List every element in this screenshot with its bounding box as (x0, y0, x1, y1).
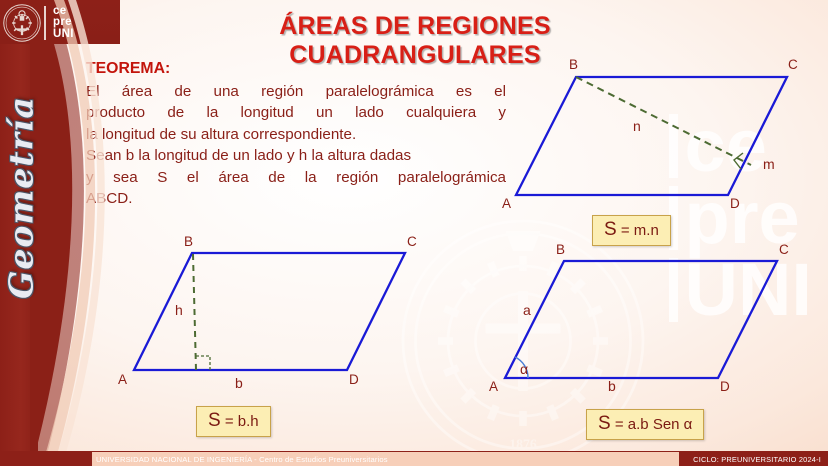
figure1-label-side-m: m (763, 156, 775, 172)
formula1-lhs: S (604, 219, 617, 240)
uni-seal-icon (3, 4, 41, 42)
footer-left-text: UNIVERSIDAD NACIONAL DE INGENIERÍA - Cen… (96, 455, 388, 464)
figure-parallelogram-mn: A B C D n m (495, 52, 825, 212)
formula3-lhs: S (598, 413, 611, 434)
slide-canvas: 1876 ce pre UNI Geometría (0, 0, 828, 466)
formula3-eq: = (615, 416, 624, 433)
theorem-p1-line3: la longitud de su altura correspondiente… (86, 124, 506, 146)
footer-right-text: CICLO: PREUNIVERSITARIO 2024-I (693, 455, 821, 464)
figure3-label-angle-alpha: α (520, 361, 528, 377)
theorem-p1-line1: El área de una región paralelográmica es… (86, 81, 506, 103)
figure3-vertex-C: C (779, 242, 789, 257)
logo-line-3: UNI (53, 29, 74, 41)
figure2-label-altitude-h: h (175, 302, 183, 318)
figure3-vertex-D: D (720, 379, 730, 394)
formula-box-mn: S = m.n (592, 215, 671, 246)
figure2-vertex-D: D (349, 372, 359, 387)
theorem-heading: TEOREMA: (86, 58, 506, 80)
figure1-label-altitude-n: n (633, 118, 641, 134)
formula3-rhs: a.b Sen α (628, 416, 693, 433)
formula-box-bh: S = b.h (196, 406, 271, 437)
svg-text:1876: 1876 (509, 437, 537, 452)
footer-left-accent (0, 451, 92, 466)
figure3-vertex-A: A (489, 379, 498, 394)
formula1-eq: = (621, 222, 630, 239)
logo-text: ce pre UNI (53, 6, 74, 41)
formula-box-absen: S = a.b Sen α (586, 409, 704, 440)
formula2-rhs: b.h (238, 413, 259, 430)
logo-divider (44, 6, 46, 40)
figure1-vertex-C: C (788, 57, 798, 72)
figure2-vertex-A: A (118, 372, 127, 387)
figure2-vertex-B: B (184, 234, 193, 249)
figure-parallelogram-bh: A B C D h b (108, 238, 428, 393)
formula1-rhs: m.n (634, 222, 659, 239)
figure3-vertex-B: B (556, 242, 565, 257)
figure3-label-side-a: a (523, 302, 531, 318)
theorem-p2-line3: ABCD. (86, 188, 506, 210)
cepreuni-logo: ce pre UNI (3, 3, 113, 43)
figure2-vertex-C: C (407, 234, 417, 249)
figure3-label-base-b: b (608, 378, 616, 394)
figure1-vertex-D: D (730, 196, 740, 211)
footer-rule (92, 451, 828, 452)
figure-parallelogram-absen: A B C D a b α (480, 240, 800, 392)
subject-vertical-label: Geometría (2, 73, 41, 323)
formula2-lhs: S (208, 410, 221, 431)
theorem-block: TEOREMA: El área de una región paralelog… (86, 58, 506, 210)
theorem-p2-line2: y sea S el área de la región paralelográ… (86, 167, 506, 189)
formula2-eq: = (225, 413, 234, 430)
theorem-p2-line1: Sean b la longitud de un lado y h la alt… (86, 145, 506, 167)
figure2-label-base-b: b (235, 375, 243, 391)
theorem-p1-line2: producto de la longitud un lado cualquie… (86, 102, 506, 124)
